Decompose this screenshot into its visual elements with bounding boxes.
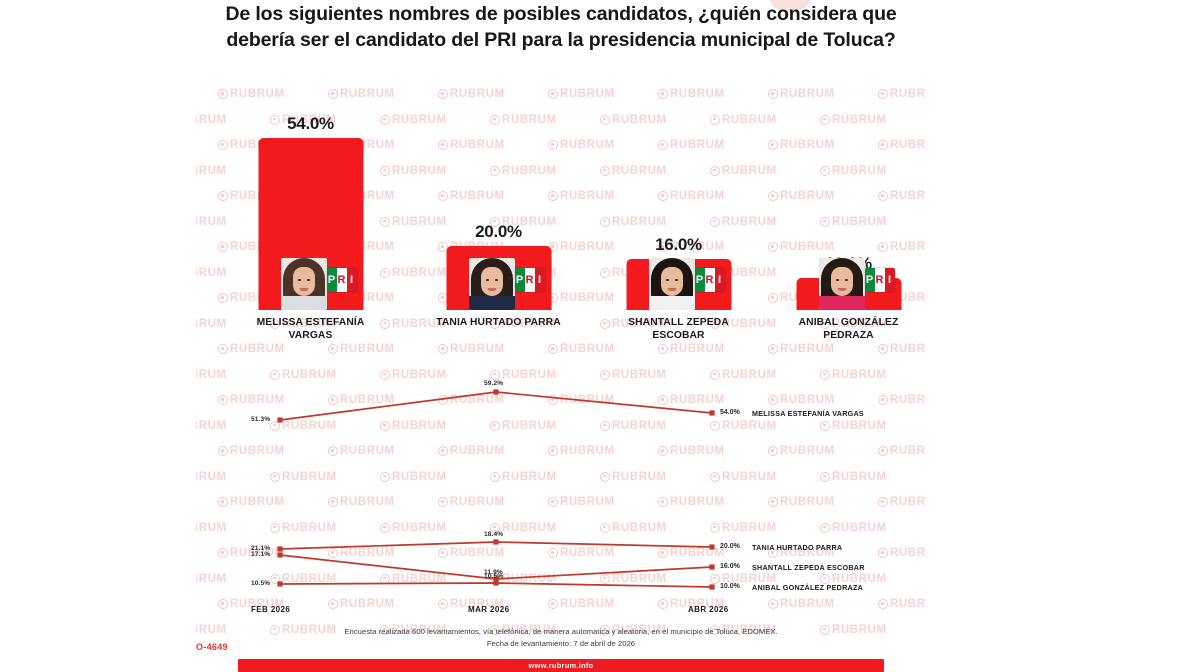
x-axis-label: ABR 2026 [688, 605, 729, 614]
candidate-photo [469, 258, 515, 310]
legend-series-name: SHANTALL ZEPEDA ESCOBAR [752, 563, 865, 572]
face-art [649, 258, 695, 310]
title-text: De los siguientes nombres de posibles ca… [196, 2, 926, 54]
bar-column: 20.0%PRITANIA HURTADO PARRA [446, 83, 551, 350]
pri-logo-icon: PRI [515, 268, 545, 292]
point-label-left: 10.5% [251, 580, 270, 587]
pri-logo-icon: PRI [695, 268, 725, 292]
x-axis-label: FEB 2026 [251, 605, 290, 614]
footer-date: Fecha de levantamiento: 7 de abril de 20… [196, 638, 926, 650]
legend-series-name: TANIA HURTADO PARRA [752, 543, 842, 552]
point-label-end: 10.0% [720, 583, 740, 590]
series-point[interactable] [493, 539, 498, 544]
point-label-left: 51.3% [251, 416, 270, 423]
footer-code: O-4649 [196, 642, 228, 652]
footer-methodology: Encuesta realizada 600 levantamientos, v… [196, 626, 926, 638]
bar-column: 16.0%PRISHANTALL ZEPEDAESCOBAR [626, 83, 731, 350]
point-label-end: 20.0% [720, 543, 740, 550]
bar-value-label: 20.0% [446, 222, 551, 242]
footer-url-text: www.rubrum.info [529, 661, 594, 670]
candidate-photo [819, 258, 865, 310]
footer-url-bar[interactable]: www.rubrum.info [238, 659, 884, 672]
bar-value-label: 16.0% [626, 235, 731, 255]
series-point[interactable] [493, 580, 498, 585]
candidate-name-label: MELISSA ESTEFANÍAVARGAS [244, 317, 377, 343]
series-point[interactable] [277, 417, 282, 422]
page-title: De los siguientes nombres de posibles ca… [196, 2, 926, 54]
pri-logo-icon: PRI [865, 268, 895, 292]
line-chart: 51.3%21.1%17.1%10.5%59.2%18.4%11.9%10.5%… [196, 352, 926, 620]
point-label-mid: 18.4% [484, 531, 503, 538]
face-art [819, 258, 865, 310]
series-point[interactable] [709, 584, 714, 589]
pri-logo-icon: PRI [327, 268, 357, 292]
series-point[interactable] [709, 564, 714, 569]
series-point[interactable] [709, 410, 714, 415]
bar-column: 54.0%PRIMELISSA ESTEFANÍAVARGAS [258, 83, 363, 350]
face-art [281, 258, 327, 310]
line-chart-svg [196, 352, 926, 620]
face-art [469, 258, 515, 310]
candidate-name-label: ANIBAL GONZÁLEZPEDRAZA [782, 317, 915, 343]
candidate-photo [649, 258, 695, 310]
candidate-photo [281, 258, 327, 310]
series-point[interactable] [493, 389, 498, 394]
series-point[interactable] [277, 581, 282, 586]
point-label-end: 54.0% [720, 409, 740, 416]
candidate-name-label: TANIA HURTADO PARRA [432, 317, 565, 330]
legend-series-name: ANIBAL GONZÁLEZ PEDRAZA [752, 583, 863, 592]
series-point[interactable] [277, 552, 282, 557]
series-point[interactable] [709, 544, 714, 549]
legend-series-name: MELISSA ESTEFANÍA VARGAS [752, 409, 864, 418]
point-label-left: 17.1% [251, 551, 270, 558]
x-axis-label: MAR 2026 [468, 605, 509, 614]
bar-value-label: 54.0% [258, 114, 363, 134]
candidate-name-label: SHANTALL ZEPEDAESCOBAR [612, 317, 745, 343]
poll-infographic: RUBRUMRUBRUMRUBRUMRUBRUMRUBRUMRUBRUMRUBR… [0, 0, 1191, 670]
point-label-mid: 10.5% [484, 573, 503, 580]
footer: Encuesta realizada 600 levantamientos, v… [196, 626, 926, 650]
point-label-end: 16.0% [720, 563, 740, 570]
point-label-mid: 59.2% [484, 380, 503, 387]
series-line [280, 392, 712, 420]
bar-column: 10.0%PRIANIBAL GONZÁLEZPEDRAZA [796, 83, 901, 350]
bar-chart: 54.0%PRIMELISSA ESTEFANÍAVARGAS20.0%PRIT… [196, 88, 926, 350]
series-point[interactable] [277, 546, 282, 551]
